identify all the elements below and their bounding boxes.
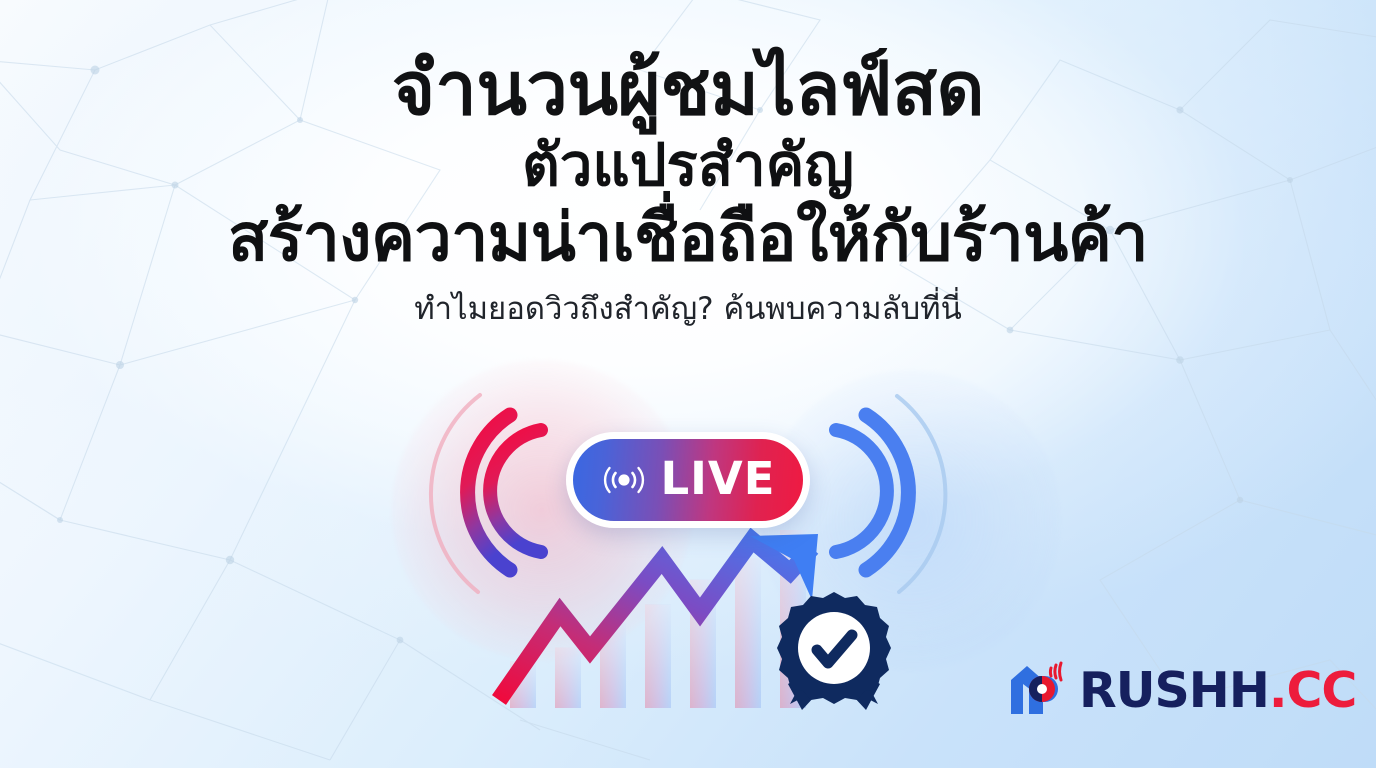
bar-chart-bar-fade (645, 605, 671, 708)
headline-subtitle: ทำไมยอดวิวถึงสำคัญ? ค้นพบความลับที่นี่ (0, 291, 1376, 328)
headline-block: จำนวนผู้ชมไลฟ์สด ตัวแปรสำคัญ สร้างความน่… (0, 52, 1376, 328)
verified-rosette-icon (777, 592, 891, 710)
broadcast-icon (601, 457, 647, 503)
brand-wordmark: RUSHH.CC (1079, 666, 1356, 715)
rushh-r-mark-icon (1005, 660, 1069, 720)
sound-wave-left (431, 395, 541, 592)
sound-wave-right (836, 396, 945, 592)
bar-chart-bar-fade (555, 647, 581, 708)
brand-name-primary: RUSHH (1079, 662, 1269, 719)
headline-line-2: ตัวแปรสำคัญ (0, 131, 1376, 199)
bar-chart-bar-fade (735, 558, 761, 708)
brand-logo[interactable]: RUSHH.CC (1005, 660, 1356, 720)
poster-canvas: จำนวนผู้ชมไลฟ์สด ตัวแปรสำคัญ สร้างความน่… (0, 0, 1376, 768)
headline-line-3: สร้างความน่าเชื่อถือให้กับร้านค้า (0, 202, 1376, 275)
brand-tld: CC (1286, 662, 1356, 719)
live-badge[interactable]: LIVE (566, 432, 810, 528)
headline-line-1: จำนวนผู้ชมไลฟ์สด (0, 52, 1376, 127)
brand-dot: . (1269, 662, 1287, 719)
live-label: LIVE (661, 456, 776, 504)
